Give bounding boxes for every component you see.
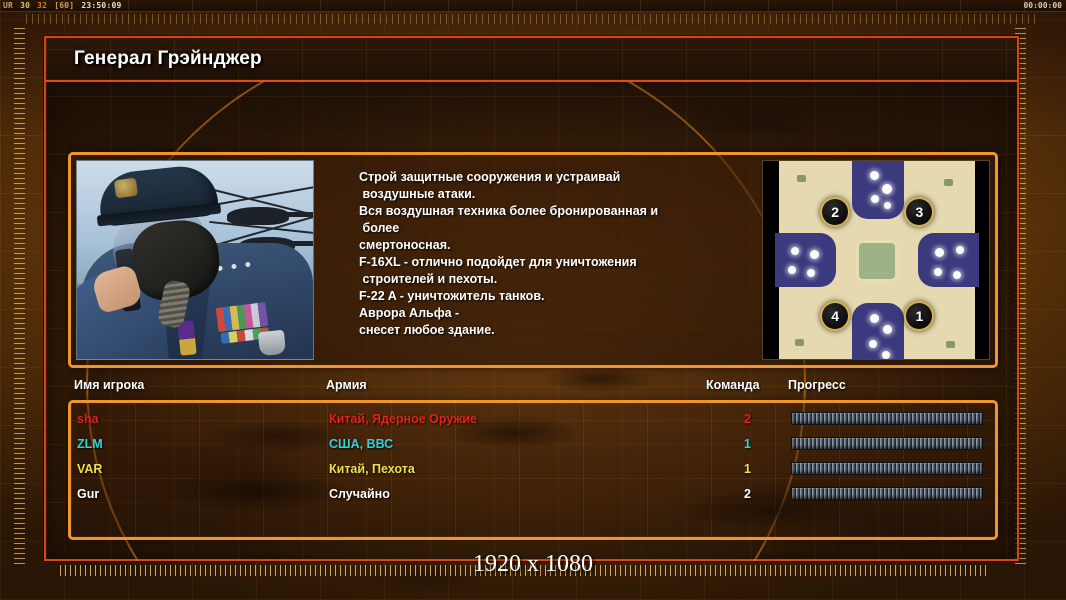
player-name[interactable]: sha xyxy=(77,412,99,426)
window-body: Строй защитные сооружения и устраивай во… xyxy=(46,82,1017,561)
status-bar-timer: 00:00:00 xyxy=(1023,1,1062,11)
page-title: Генерал Грэйнджер xyxy=(74,48,262,70)
player-list-headers: Имя игрока Армия Команда Прогресс xyxy=(68,378,998,398)
purple-heart-medal xyxy=(177,320,196,355)
map-preview-frame[interactable]: 2 3 4 1 xyxy=(762,160,990,360)
resolution-overlay: 1920 x 1080 xyxy=(0,551,1066,578)
map-prop-1 xyxy=(797,175,806,182)
general-info-panel: Строй защитные сооружения и устраивай во… xyxy=(68,152,998,368)
player-army[interactable]: США, ВВС xyxy=(329,437,393,451)
header-progress: Прогресс xyxy=(788,378,846,392)
table-row[interactable]: sha Китай, Ядерное Оружие 2 xyxy=(71,409,995,433)
progress-bar xyxy=(791,437,983,450)
player-team[interactable]: 2 xyxy=(737,412,751,426)
map-prop-3 xyxy=(795,339,804,346)
status-value-30: 30 xyxy=(19,1,31,10)
player-name[interactable]: VAR xyxy=(77,462,102,476)
progress-bar xyxy=(791,412,983,425)
player-team[interactable]: 2 xyxy=(737,487,751,501)
cap-insignia xyxy=(114,178,138,199)
progress-bar xyxy=(791,462,983,475)
header-army: Армия xyxy=(326,378,367,392)
table-row[interactable]: ZLM США, ВВС 1 xyxy=(71,434,995,458)
map-water-west xyxy=(775,233,836,287)
player-name[interactable]: ZLM xyxy=(77,437,103,451)
status-clock: 23:50:09 xyxy=(80,1,122,10)
player-name[interactable]: Gur xyxy=(77,487,99,501)
player-list-panel: sha Китай, Ядерное Оружие 2 ZLM США, ВВС… xyxy=(68,400,998,540)
header-team: Команда xyxy=(706,378,760,392)
window-titlebar: Генерал Грэйнджер xyxy=(46,38,1017,82)
player-army[interactable]: Китай, Пехота xyxy=(329,462,415,476)
player-progress xyxy=(791,412,983,425)
map-prop-4 xyxy=(946,341,955,348)
player-army[interactable]: Случайно xyxy=(329,487,390,501)
status-bar-left-readout: UR 30 32 [60] 23:50:09 xyxy=(2,1,122,11)
player-team[interactable]: 1 xyxy=(737,462,751,476)
player-progress xyxy=(791,437,983,450)
map-start-position-2[interactable]: 2 xyxy=(822,199,848,225)
status-label-ur: UR xyxy=(2,1,14,10)
player-army[interactable]: Китай, Ядерное Оружие xyxy=(329,412,477,426)
general-info-window: Генерал Грэйнджер xyxy=(44,36,1019,561)
table-row[interactable]: Gur Случайно 2 xyxy=(71,484,995,508)
player-team[interactable]: 1 xyxy=(737,437,751,451)
map-preview[interactable]: 2 3 4 1 xyxy=(779,161,975,360)
map-water-north xyxy=(852,160,905,219)
map-start-position-4[interactable]: 4 xyxy=(822,303,848,329)
status-bar: UR 30 32 [60] 23:50:09 00:00:00 xyxy=(0,0,1066,12)
status-bar-grid xyxy=(0,0,1066,11)
header-player-name: Имя игрока xyxy=(74,378,144,392)
status-value-60: [60] xyxy=(53,1,75,10)
map-water-east xyxy=(918,233,979,287)
progress-bar xyxy=(791,487,983,500)
player-progress xyxy=(791,487,983,500)
table-row[interactable]: VAR Китай, Пехота 1 xyxy=(71,459,995,483)
map-water-south xyxy=(852,303,905,360)
map-center-plateau xyxy=(859,243,894,279)
status-value-32: 32 xyxy=(36,1,48,10)
player-progress xyxy=(791,462,983,475)
general-portrait xyxy=(76,160,314,360)
map-prop-2 xyxy=(944,179,953,186)
general-description: Строй защитные сооружения и устраивай во… xyxy=(359,169,749,339)
